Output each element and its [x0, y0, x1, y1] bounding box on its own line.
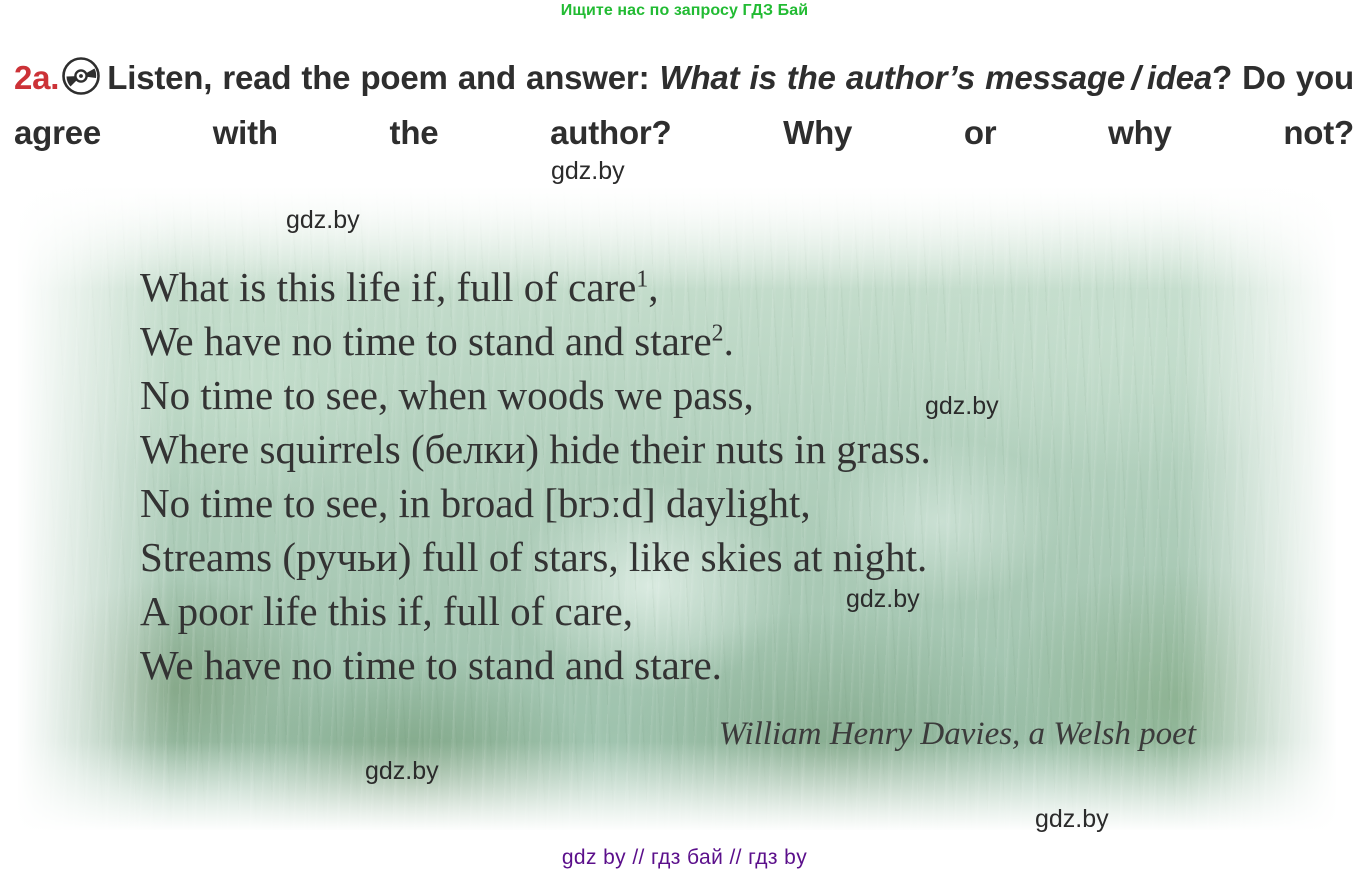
task-instruction-lead: Listen, read the poem and answer: — [107, 59, 659, 96]
poem-line: We have no time to stand and stare. — [140, 638, 931, 692]
watermark: gdz.by — [925, 392, 999, 421]
task-number: 2a. — [14, 59, 59, 96]
poem-line-text: What is this life if, full of care — [140, 264, 636, 310]
task-instruction-question: What is the author’s message / idea — [660, 59, 1213, 96]
cd-audio-icon[interactable] — [61, 56, 101, 109]
poem-line: No time to see, in broad [brɔːd] dayligh… — [140, 476, 931, 530]
task-heading-block: 2a. Listen, read the poem and answer: Wh… — [14, 54, 1354, 205]
task-instruction: 2a. Listen, read the poem and answer: Wh… — [14, 54, 1354, 205]
poem-body: What is this life if, full of care1, We … — [140, 260, 931, 692]
poem-line: What is this life if, full of care1, — [140, 260, 931, 314]
poem-line: No time to see, when woods we pass, — [140, 368, 931, 422]
poem-line: Where squirrels (белки) hide their nuts … — [140, 422, 931, 476]
poem-line: Streams (ручьи) full of stars, like skie… — [140, 530, 931, 584]
footer-site-links: gdz by // гдз бай // гдз by — [0, 846, 1369, 870]
watermark: gdz.by — [286, 206, 360, 235]
poem-line: A poor life this if, full of care, — [140, 584, 931, 638]
poem-illustration-panel: What is this life if, full of care1, We … — [18, 188, 1336, 830]
footnote-marker: 1 — [636, 266, 648, 292]
poem-author-attribution: William Henry Davies, a Welsh poet — [18, 716, 1196, 753]
watermark: gdz.by — [1035, 805, 1109, 834]
footnote-marker: 2 — [712, 320, 724, 346]
watermark: gdz.by — [365, 757, 439, 786]
poem-line-tail: , — [648, 264, 658, 310]
watermark: gdz.by — [846, 585, 920, 614]
promo-banner: Ищите нас по запросу ГДЗ Бай — [0, 2, 1369, 20]
poem-line-text: We have no time to stand and stare — [140, 318, 712, 364]
watermark: gdz.by — [551, 157, 625, 186]
poem-line-tail: . — [724, 318, 734, 364]
poem-line: We have no time to stand and stare2. — [140, 314, 931, 368]
